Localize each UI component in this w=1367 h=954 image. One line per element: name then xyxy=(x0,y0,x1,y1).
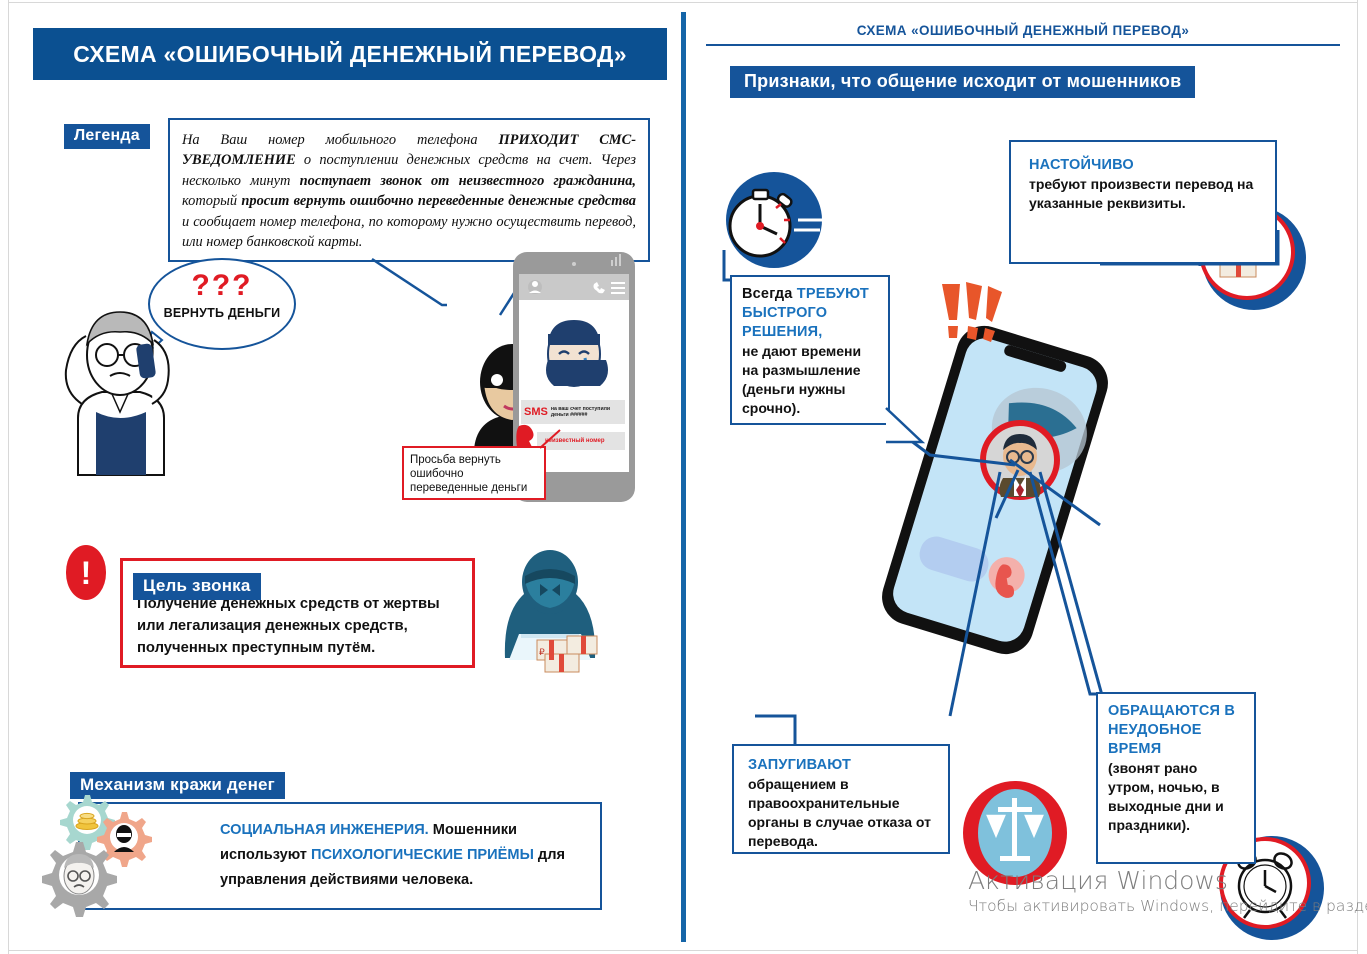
legend-p1: На Ваш номер мобильного телефона xyxy=(182,132,498,148)
callout-fast-decision: Всегда ТРЕБУЮТ БЫСТРОГО РЕШЕНИЯ, не дают… xyxy=(730,275,890,425)
gears-illustration xyxy=(40,790,200,920)
callout-scare-body: обращением в правоохранительные органы в… xyxy=(748,775,938,851)
infographic-page: СХЕМА «ОШИБОЧНЫЙ ДЕНЕЖНЫЙ ПЕРЕВОД» Леген… xyxy=(0,0,1367,954)
phone-top-notch xyxy=(519,250,629,276)
se-part3: ПСИХОЛОГИЧЕСКИЕ ПРИЁМЫ xyxy=(311,847,534,863)
return-money-callout: Просьба вернуть ошибочно переведенные де… xyxy=(402,446,546,500)
legend-b3: просит вернуть ошибочно переведенные ден… xyxy=(241,193,636,209)
windows-activation-title: Активация Windows xyxy=(968,866,1228,895)
sms-body-text: на ваш счет поступили деньги ###### xyxy=(548,406,621,418)
left-header-bar: СХЕМА «ОШИБОЧНЫЙ ДЕНЕЖНЫЙ ПЕРЕВОД» xyxy=(33,28,667,80)
callout-fast-head-plain: Всегда xyxy=(742,286,797,302)
legend-tail-left xyxy=(372,259,472,305)
exclamation-icon: ! xyxy=(66,545,106,600)
legend-p4: и сообщает номер телефона, по которому н… xyxy=(182,214,636,250)
callout-insistent: НАСТОЙЧИВО требуют произвести перевод на… xyxy=(1009,140,1277,264)
legend-b2: поступает звонок от неизвестного граждан… xyxy=(300,173,636,189)
callout-insistent-body: требуют произвести перевод на указанные … xyxy=(1029,175,1265,213)
callout-fast-body: не дают времени на размышление (деньги н… xyxy=(742,342,880,418)
phone-status-bar xyxy=(519,274,629,300)
callout-scare-head: ЗАПУГИВАЮТ xyxy=(748,756,938,775)
phone-statusbar-icons xyxy=(519,274,629,300)
callout-scare: ЗАПУГИВАЮТ обращением в правоохранительн… xyxy=(732,744,950,854)
goal-text: Получение денежных средств от жертвы или… xyxy=(137,593,458,659)
signs-badge: Признаки, что общение исходит от мошенни… xyxy=(730,66,1195,98)
callout-time-head: ОБРАЩАЮТСЯ В НЕУДОБНОЕ ВРЕМЯ xyxy=(1108,702,1246,759)
svg-text:₽: ₽ xyxy=(539,647,545,657)
return-money-callout-text: Просьба вернуть ошибочно переведенные де… xyxy=(410,453,538,495)
page-border-bottom xyxy=(8,950,1358,951)
callout-insistent-head: НАСТОЙЧИВО xyxy=(1029,156,1265,175)
sms-label: SMS xyxy=(524,406,548,418)
legend-p3: который xyxy=(182,193,241,209)
return-money-callout-tail xyxy=(536,430,566,454)
right-panel-title: СХЕМА «ОШИБОЧНЫЙ ДЕНЕЖНЫЙ ПЕРЕВОД» xyxy=(706,23,1340,38)
page-border-left xyxy=(8,0,9,954)
callout-time-body: (звонят рано утром, ночью, в выходные дн… xyxy=(1108,759,1246,835)
hacker-illustration: ₽ xyxy=(485,538,615,668)
gear-victim-icon xyxy=(42,842,117,917)
page-border-top xyxy=(8,2,1358,3)
windows-activation-subtitle: Чтобы активировать Windows, перейдите в … xyxy=(968,897,1367,915)
sms-notification-row: SMS на ваш счет поступили деньги ###### xyxy=(521,400,625,424)
page-title: СХЕМА «ОШИБОЧНЫЙ ДЕНЕЖНЫЙ ПЕРЕВОД» xyxy=(73,41,627,68)
callout-inconvenient-time: ОБРАЩАЮТСЯ В НЕУДОБНОЕ ВРЕМЯ (звонят ран… xyxy=(1096,692,1256,864)
question-marks: ??? xyxy=(150,271,294,301)
legend-textbox: На Ваш номер мобильного телефона ПРИХОДИ… xyxy=(168,118,650,262)
victim-illustration xyxy=(40,300,200,480)
callout-fast-head: Всегда ТРЕБУЮТ БЫСТРОГО РЕШЕНИЯ, xyxy=(742,285,880,342)
panel-divider xyxy=(681,12,686,942)
callout-fast-tail xyxy=(886,408,946,468)
goal-badge: Цель звонка xyxy=(133,573,261,600)
legend-badge: Легенда xyxy=(64,124,150,149)
right-panel-rule xyxy=(706,44,1340,46)
crying-victim-icon xyxy=(533,314,615,390)
se-part1: СОЦИАЛЬНАЯ ИНЖЕНЕРИЯ. xyxy=(220,822,429,838)
